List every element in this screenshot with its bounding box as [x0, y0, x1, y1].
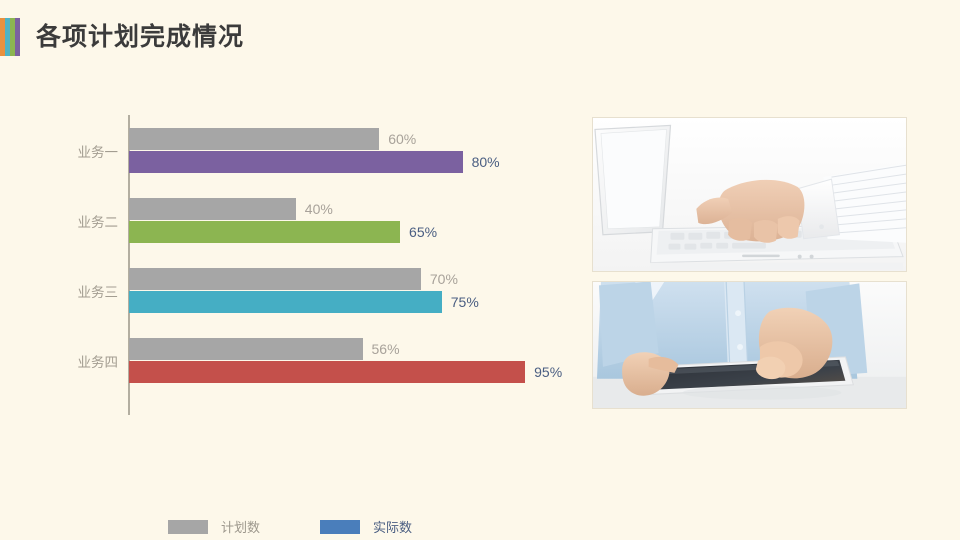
bar-chart: 业务一60%80%业务二40%65%业务三70%75%业务四56%95% 计划数… — [0, 95, 580, 465]
chart-category-group: 业务三70%75% — [0, 268, 580, 313]
accent-stripe-4 — [15, 18, 20, 56]
category-label-1: 业务一 — [0, 146, 118, 160]
plan-value-label-3: 70% — [430, 272, 458, 286]
legend-label-actual: 实际数 — [373, 521, 412, 534]
plan-bar-row-2: 40% — [129, 198, 333, 220]
category-label-2: 业务二 — [0, 216, 118, 230]
actual-bar-row-2: 65% — [129, 221, 437, 243]
photo-hands-using-tablet-blue-shirt — [592, 281, 907, 409]
page-title: 各项计划完成情况 — [36, 25, 244, 50]
actual-bar-row-1: 80% — [129, 151, 500, 173]
chart-category-group: 业务一60%80% — [0, 128, 580, 173]
actual-bar-1 — [129, 151, 463, 173]
category-label-3: 业务三 — [0, 286, 118, 300]
category-label-4: 业务四 — [0, 356, 118, 370]
title-bar: 各项计划完成情况 — [0, 16, 244, 58]
actual-bar-4 — [129, 361, 525, 383]
plan-bar-2 — [129, 198, 296, 220]
actual-value-label-3: 75% — [451, 295, 479, 309]
legend-swatch-plan — [168, 520, 208, 534]
laptop-photo-illustration — [593, 118, 906, 271]
plan-bar-row-1: 60% — [129, 128, 416, 150]
actual-value-label-1: 80% — [472, 155, 500, 169]
legend-item-plan: 计划数 — [168, 520, 260, 534]
actual-value-label-2: 65% — [409, 225, 437, 239]
legend-label-plan: 计划数 — [221, 521, 260, 534]
plan-value-label-4: 56% — [372, 342, 400, 356]
chart-legend: 计划数 实际数 — [0, 520, 580, 534]
actual-bar-3 — [129, 291, 442, 313]
plan-bar-row-4: 56% — [129, 338, 400, 360]
photo-hands-typing-on-white-laptop — [592, 117, 907, 272]
title-accent-stripes — [0, 18, 20, 56]
actual-bar-2 — [129, 221, 400, 243]
plan-bar-4 — [129, 338, 363, 360]
actual-bar-row-4: 95% — [129, 361, 562, 383]
chart-category-group: 业务四56%95% — [0, 338, 580, 383]
plan-bar-3 — [129, 268, 421, 290]
legend-item-actual: 实际数 — [320, 520, 412, 534]
plan-bar-row-3: 70% — [129, 268, 458, 290]
legend-swatch-actual — [320, 520, 360, 534]
actual-bar-row-3: 75% — [129, 291, 479, 313]
tablet-photo-illustration — [593, 282, 906, 408]
chart-category-group: 业务二40%65% — [0, 198, 580, 243]
chart-plot-area: 业务一60%80%业务二40%65%业务三70%75%业务四56%95% — [0, 95, 580, 420]
plan-value-label-1: 60% — [388, 132, 416, 146]
plan-value-label-2: 40% — [305, 202, 333, 216]
plan-bar-1 — [129, 128, 379, 150]
actual-value-label-4: 95% — [534, 365, 562, 379]
